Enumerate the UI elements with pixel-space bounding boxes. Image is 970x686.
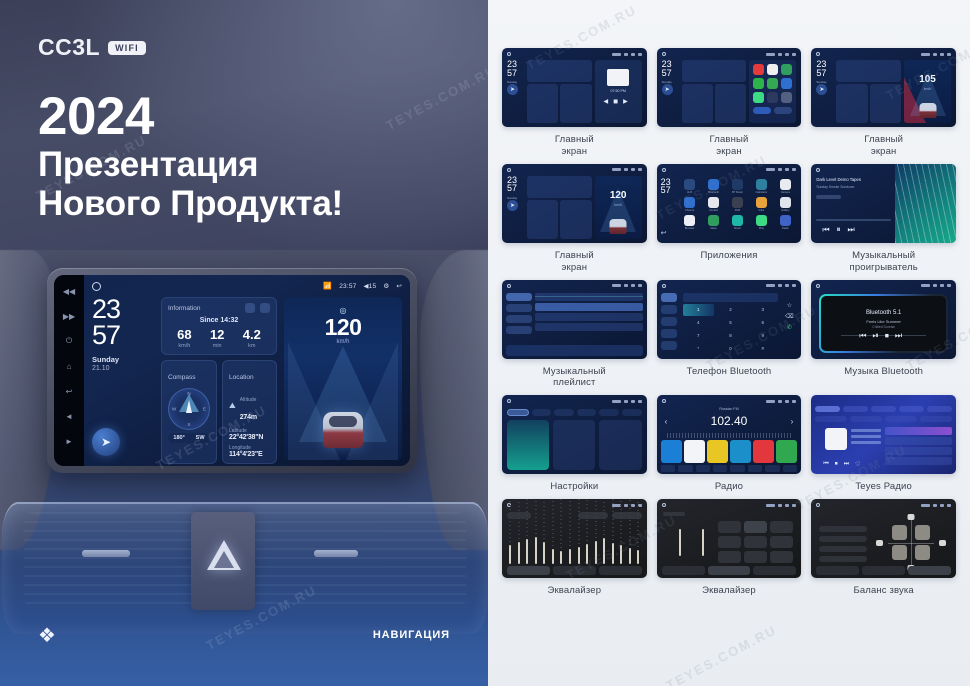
gallery-item[interactable]: Эквалайзер — [657, 499, 802, 597]
gallery-item[interactable]: Баланс звука — [811, 499, 956, 597]
eq-band[interactable] — [518, 542, 520, 564]
preset-driver[interactable] — [819, 526, 867, 532]
app-tile[interactable]: Browser — [679, 215, 701, 230]
progress-bar[interactable] — [816, 219, 891, 221]
app-tile[interactable]: Maps — [703, 215, 725, 230]
information-card[interactable]: Information Since 14:32 — [161, 297, 277, 355]
app-tile[interactable]: Files — [750, 197, 772, 212]
tab-equalizer[interactable] — [507, 566, 550, 575]
altitude-row: ⛰ Altitude 274m — [229, 388, 270, 424]
sidebar-item-artists[interactable] — [506, 315, 532, 323]
gallery-item[interactable]: Музыкальный плейлист — [502, 280, 647, 390]
thumbnail-equalizer-effects[interactable] — [657, 499, 802, 578]
refresh-icon[interactable] — [245, 303, 255, 313]
thumbnail-sound-balance[interactable] — [811, 499, 956, 578]
dialpad-key[interactable]: 1 — [683, 304, 714, 316]
speed-value: 120 — [284, 314, 402, 341]
app-tile[interactable]: Gallery — [774, 197, 796, 212]
sidebar-item-search[interactable] — [661, 317, 677, 326]
gallery-item[interactable]: 2357Sunday➤ 105 km/h Главный экран — [811, 48, 956, 158]
prev-track-key[interactable]: ◀◀ — [63, 285, 75, 297]
app-tile[interactable]: Bluetooth — [703, 179, 725, 194]
clock-date: 21.10 — [92, 365, 154, 372]
effect-sliders[interactable] — [669, 523, 715, 562]
search-icon[interactable] — [678, 465, 692, 472]
clock-icon — [921, 53, 930, 56]
back-icon[interactable]: ↩ — [396, 282, 402, 290]
slider-left[interactable] — [679, 529, 681, 556]
app-tile[interactable]: Camera — [774, 179, 796, 194]
presentation-slide: CC3L WIFI 2024 Презентация Нового Продук… — [0, 0, 970, 686]
bluetooth-transport-controls[interactable]: ⏮⏯⏹⏭ — [821, 331, 946, 341]
app-drawer-grid[interactable]: AUX Bluetooth BT Music Calculator Camera… — [679, 177, 797, 239]
eq-band[interactable] — [603, 538, 605, 564]
compass-dial: N S W E — [168, 388, 210, 430]
dialed-number-field[interactable] — [683, 293, 779, 302]
app-tile[interactable]: AUX — [679, 179, 701, 194]
app-tile[interactable]: Play — [750, 215, 772, 230]
tab-equalizer[interactable] — [816, 566, 859, 575]
volume-icon — [778, 504, 782, 507]
home-icon — [662, 503, 666, 507]
thumbnail-music-player[interactable]: Dark Level Demo Tapes Sunday Smoke Sundo… — [811, 164, 956, 243]
gallery-item[interactable]: 1 2 3 4 5 6 7 8 9 * 0 # ☆⌫✆ Те — [657, 280, 802, 390]
tab-all[interactable] — [815, 406, 840, 412]
filter-sort[interactable] — [920, 416, 952, 422]
phone-sidebar[interactable] — [661, 293, 677, 355]
preset-3[interactable] — [707, 440, 728, 463]
sidebar-item-contacts[interactable] — [661, 305, 677, 314]
app-tile[interactable]: Chrome — [679, 197, 701, 212]
seat-rear-left[interactable] — [892, 545, 907, 560]
station-row-selected[interactable] — [885, 427, 952, 435]
balance-up-button[interactable] — [908, 514, 915, 520]
tab-sound[interactable] — [532, 409, 552, 416]
eq-band[interactable] — [620, 545, 622, 564]
app-label: BT Music — [732, 191, 743, 194]
meta-line — [851, 435, 881, 438]
expand-icon[interactable] — [260, 303, 270, 313]
home-icon — [816, 52, 820, 56]
thumbnail-home-speed-105[interactable]: 2357Sunday➤ 105 km/h — [811, 48, 956, 127]
preset-vocal[interactable] — [770, 536, 793, 548]
app-label: Play — [759, 227, 764, 230]
dialpad-keys[interactable]: 1 2 3 4 5 6 7 8 9 * 0 # — [683, 304, 779, 355]
thumb-clock: 2357Sunday➤ — [507, 176, 524, 239]
preset-rear[interactable] — [819, 546, 867, 552]
preset-5[interactable] — [753, 440, 774, 463]
tab-fader[interactable] — [553, 566, 596, 575]
information-card-actions[interactable] — [245, 303, 270, 313]
meta-line — [851, 429, 881, 432]
compass-card[interactable]: Compass N S W E — [161, 360, 217, 464]
tab-system[interactable] — [622, 409, 642, 416]
thumb-driving-view: 120 km/h — [595, 176, 642, 239]
tab-equalizer[interactable] — [662, 566, 705, 575]
eq-band[interactable] — [543, 542, 545, 565]
preset-front[interactable] — [819, 536, 867, 542]
preset-flat[interactable] — [744, 551, 767, 563]
volume-icon — [624, 53, 628, 56]
tab-favorites[interactable] — [927, 406, 952, 412]
sidebar-item-dialpad[interactable] — [661, 293, 677, 302]
loc-icon[interactable] — [748, 465, 762, 472]
gallery-item[interactable]: Настройки — [502, 395, 647, 493]
home-icon — [816, 284, 820, 288]
gear-icon — [631, 53, 635, 56]
phone-actions[interactable]: ☆⌫✆ — [781, 302, 797, 355]
dialpad-key[interactable]: 7 — [683, 330, 714, 342]
balance-left-button[interactable] — [876, 540, 883, 546]
eq-icon[interactable] — [713, 465, 727, 472]
volume-up-key[interactable]: ► — [63, 435, 75, 447]
band-button[interactable] — [661, 465, 675, 472]
gear-icon — [940, 504, 944, 507]
gear-icon — [631, 504, 635, 507]
gallery-item[interactable]: Bluetooth 5.1 Feels Like Summer Chilled … — [811, 280, 956, 390]
list-item[interactable] — [535, 323, 643, 331]
teyes-radio-tabs[interactable] — [815, 406, 952, 413]
gallery-item[interactable]: 2357Sunday➤ 07:50 PM ◀◼▶ Главный экран — [502, 48, 647, 158]
gallery-item[interactable]: Dark Level Demo Tapes Sunday Smoke Sundo… — [811, 164, 956, 274]
app-tile[interactable]: DVR — [727, 197, 749, 212]
compass-north-label: N — [187, 391, 190, 396]
dialpad-key[interactable]: # — [747, 343, 778, 355]
thumb-nav-fab: ➤ — [507, 200, 518, 211]
preset-pop[interactable] — [718, 521, 741, 533]
preset-jazz[interactable] — [718, 536, 741, 548]
playlist-rows[interactable] — [535, 293, 643, 343]
home-key[interactable]: ⌂ — [63, 360, 75, 372]
power-key[interactable]: ⏻ — [63, 335, 75, 347]
preset-all[interactable] — [819, 556, 867, 562]
list-item[interactable] — [535, 293, 643, 301]
gallery-item[interactable]: Russian FM 102.40 ‹ › Радио — [657, 395, 802, 493]
seat-front-right[interactable] — [915, 525, 930, 540]
app-label: AUX — [687, 191, 692, 194]
tab-fader[interactable] — [862, 566, 905, 575]
seat-rear-right[interactable] — [915, 545, 930, 560]
stop-icon[interactable]: ⏹ — [835, 461, 838, 468]
app-label: Camera — [781, 191, 790, 194]
gear-icon[interactable]: ⚙ — [383, 282, 389, 290]
thumb-status-bar — [662, 167, 797, 173]
head-unit-hardware-keys[interactable]: ◀◀ ▶▶ ⏻ ⌂ ↩ ◄ ► — [54, 275, 84, 466]
volume-down-key[interactable]: ◄ — [63, 410, 75, 422]
preset-bass[interactable] — [718, 551, 741, 563]
balance-pad[interactable] — [888, 519, 934, 566]
tab-news[interactable] — [871, 406, 896, 412]
product-logo: CC3L WIFI — [38, 34, 146, 61]
thumb-status-icons — [921, 53, 951, 56]
eq-band[interactable] — [552, 549, 554, 565]
eq-band[interactable] — [629, 548, 631, 564]
all-apps-icon — [781, 92, 792, 103]
thumb-status-bar — [816, 502, 951, 508]
status-bar: 📶 23:57 ◀15 ⚙ ↩ — [92, 280, 402, 292]
frequency-scale[interactable] — [667, 433, 792, 438]
bluetooth-music-icon — [732, 179, 743, 190]
gallery-item[interactable]: 2357Sunday➤ 120 km/h Главный экран — [502, 164, 647, 274]
next-icon[interactable]: ⏭ — [844, 461, 849, 468]
dvr-icon — [732, 197, 743, 208]
track-artist: Sunday Smoke Sundown — [816, 185, 897, 189]
back-icon — [947, 53, 951, 56]
clock-icon — [766, 53, 775, 56]
settings-cards[interactable] — [507, 420, 642, 470]
thumb-location-card — [870, 84, 901, 123]
effect-presets-grid[interactable] — [718, 521, 793, 563]
vehicle-icon — [323, 412, 363, 448]
play-store-icon — [753, 92, 764, 103]
gallery-item[interactable]: 2357 AUX Bluetooth BT Music Calculator C… — [657, 164, 802, 274]
track-title: Dark Level Demo Tapes — [816, 177, 897, 182]
equalizer-footer-tabs[interactable] — [507, 566, 642, 575]
vehicle-icon — [919, 103, 936, 118]
thumbnail-bluetooth-music[interactable]: Bluetooth 5.1 Feels Like Summer Chilled … — [811, 280, 956, 359]
filter-rate[interactable] — [885, 416, 917, 422]
thumbnail-playlist[interactable] — [502, 280, 647, 359]
lower-widgets-row: Compass N S W E — [161, 360, 277, 464]
media-controls: ◀◼▶ — [595, 98, 642, 105]
volume-icon — [778, 53, 782, 56]
tab-general[interactable] — [599, 409, 619, 416]
tune-down-icon[interactable]: ‹ — [665, 417, 668, 426]
compass-heading-value: 180° — [173, 435, 184, 441]
thumbnail-settings[interactable] — [502, 395, 647, 474]
thumbnail-home-media[interactable]: 2357Sunday➤ 07:50 PM ◀◼▶ — [502, 48, 647, 127]
back-key[interactable]: ↩ — [63, 385, 75, 397]
settings-icon[interactable] — [765, 465, 779, 472]
eq-band[interactable] — [526, 539, 528, 564]
clock-icon — [921, 284, 930, 287]
sidebar-item-settings[interactable] — [661, 341, 677, 350]
apps-back-icon[interactable]: ↩ — [661, 229, 667, 237]
gallery-item[interactable]: Эквалайзер — [502, 499, 647, 597]
pause-icon[interactable]: ⏸ — [837, 225, 841, 235]
thumb-minute: 57 — [507, 184, 524, 193]
settings-tabs[interactable] — [507, 408, 642, 416]
compass-direction-value: SW — [196, 435, 205, 441]
call-icon[interactable]: ✆ — [787, 324, 792, 331]
thumbnail-equalizer[interactable] — [502, 499, 647, 578]
thumbnail-radio[interactable]: Russian FM 102.40 ‹ › — [657, 395, 802, 474]
app-tile[interactable]: Contact — [703, 197, 725, 212]
pill-left — [753, 107, 771, 114]
thumb-status-icons — [766, 53, 796, 56]
eq-band[interactable] — [509, 545, 511, 564]
gear-icon — [631, 168, 635, 171]
equalizer-footer-tabs[interactable] — [662, 566, 797, 575]
dialpad-key[interactable]: * — [683, 343, 714, 355]
thumb-minute: 57 — [507, 69, 524, 78]
sidebar-item-folders[interactable] — [506, 326, 532, 334]
app-tile[interactable]: Radio — [774, 215, 796, 230]
card-wifi[interactable] — [507, 420, 549, 470]
thumbnail-home-apps[interactable]: 2357Sunday➤ .sc,.t-right i{width:11px;he… — [657, 48, 802, 127]
tune-up-icon[interactable]: › — [791, 417, 794, 426]
list-icon[interactable] — [696, 465, 710, 472]
card-car-settings[interactable] — [553, 420, 595, 470]
eq-band[interactable] — [595, 541, 597, 564]
navigation-arrow-icon: ➤ — [101, 436, 111, 448]
hero-panel: CC3L WIFI 2024 Презентация Нового Продук… — [0, 0, 488, 686]
gallery-caption: Teyes Радио — [855, 481, 912, 493]
eq-band[interactable] — [637, 550, 639, 564]
preset-4[interactable] — [730, 440, 751, 463]
balance-presets[interactable] — [819, 523, 867, 564]
list-item[interactable] — [535, 313, 643, 321]
dialpad-key[interactable]: 8 — [715, 330, 746, 342]
player-controls[interactable]: ⏮⏸⏭ — [822, 225, 854, 235]
tab-fader[interactable] — [708, 566, 751, 575]
sidebar-item-history[interactable] — [661, 329, 677, 338]
location-card[interactable]: Location ⛰ Altitude 274m — [222, 360, 277, 464]
app-label: Maps — [710, 227, 716, 230]
gear-icon — [785, 284, 789, 287]
station-row[interactable] — [885, 437, 952, 445]
equalizer-footer-tabs[interactable] — [816, 566, 951, 575]
app-tile[interactable]: Music — [727, 215, 749, 230]
dialpad-key[interactable]: 0 — [715, 343, 746, 355]
preset-6[interactable] — [776, 440, 797, 463]
thumb-media-card: 07:50 PM ◀◼▶ — [595, 60, 642, 123]
tab-wifi[interactable] — [507, 409, 529, 416]
thumb-status-bar — [662, 51, 797, 57]
app-tile[interactable]: BT Music — [727, 179, 749, 194]
thumb-row — [836, 84, 901, 123]
thumb-clock: 2357Sunday➤ — [507, 60, 524, 123]
tab-display[interactable] — [554, 409, 574, 416]
backspace-icon[interactable]: ⌫ — [785, 313, 793, 320]
equalizer-band-sliders[interactable] — [509, 525, 640, 564]
thumb-status-bar — [662, 398, 797, 404]
favorite-icon[interactable]: ♡ — [855, 461, 860, 468]
now-playing-bar[interactable] — [506, 345, 643, 356]
gallery-caption: Приложения — [700, 250, 757, 262]
thumb-minute: 57 — [662, 69, 679, 78]
dialpad-key[interactable]: 9 — [747, 330, 778, 342]
thumbnail-home-speed-120[interactable]: 2357Sunday➤ 120 km/h — [502, 164, 647, 243]
app-tile[interactable]: Calculator — [750, 179, 772, 194]
preset-custom[interactable] — [744, 536, 767, 548]
prev-icon[interactable]: ⏮ — [823, 461, 828, 468]
apps-clock: 2357 — [661, 178, 671, 195]
apps-icon[interactable] — [783, 465, 797, 472]
tab-balance[interactable] — [908, 566, 951, 575]
station-row[interactable] — [885, 447, 952, 455]
dialpad-key[interactable]: 6 — [747, 317, 778, 329]
seat-front-left[interactable] — [892, 525, 907, 540]
filter-rock[interactable] — [815, 416, 847, 422]
status-clock: 23:57 — [339, 283, 356, 290]
thumbnail-apps[interactable]: 2357 AUX Bluetooth BT Music Calculator C… — [657, 164, 802, 243]
thumb-compass-card — [682, 84, 713, 123]
tab-balance[interactable] — [599, 566, 642, 575]
thumbnail-bluetooth-phone[interactable]: 1 2 3 4 5 6 7 8 9 * 0 # ☆⌫✆ — [657, 280, 802, 359]
preset-1[interactable] — [661, 440, 682, 463]
player-meta-line — [816, 195, 840, 199]
layers-icon[interactable]: ❖ — [38, 626, 56, 646]
gear-icon — [940, 284, 944, 287]
dialpad-key[interactable]: 4 — [683, 317, 714, 329]
radio-presets[interactable] — [661, 440, 798, 463]
station-list[interactable] — [885, 427, 952, 470]
eq-band[interactable] — [560, 551, 562, 564]
tab-genres[interactable] — [843, 406, 868, 412]
driving-view-widget[interactable]: ◎ 120 km/h — [284, 297, 402, 460]
clock-hour: 23 — [92, 297, 154, 323]
prev-icon[interactable]: ⏮ — [822, 225, 829, 235]
gallery-item[interactable]: ⏮⏹⏭♡ Teyes Радио — [811, 395, 956, 493]
balance-right-button[interactable] — [939, 540, 946, 546]
tab-balance[interactable] — [753, 566, 796, 575]
back-icon — [792, 504, 796, 507]
station-meta — [851, 429, 881, 447]
status-home-icon[interactable] — [92, 282, 101, 291]
thumbnail-teyes-radio[interactable]: ⏮⏹⏭♡ — [811, 395, 956, 474]
eq-band[interactable] — [586, 544, 588, 564]
camera-icon — [780, 179, 791, 190]
vehicle-icon — [610, 219, 627, 234]
trip-metrics: 68 km/h 12 min 4.2 — [168, 328, 270, 349]
preset-classic[interactable] — [744, 521, 767, 533]
preset-dance[interactable] — [770, 551, 793, 563]
thumb-status-icons — [766, 504, 796, 507]
teyes-radio-controls[interactable]: ⏮⏹⏭♡ — [823, 461, 860, 468]
eq-band[interactable] — [612, 543, 614, 564]
back-icon — [792, 284, 796, 287]
dialpad-key[interactable]: 2 — [715, 304, 746, 316]
next-track-key[interactable]: ▶▶ — [63, 310, 75, 322]
card-more[interactable] — [599, 420, 641, 470]
sidebar-item-tracks[interactable] — [506, 293, 532, 301]
star-icon[interactable]: ☆ — [787, 302, 792, 309]
player-info: Dark Level Demo Tapes Sunday Smoke Sundo… — [816, 177, 897, 239]
preset-rock[interactable] — [770, 521, 793, 533]
gallery-item[interactable]: 2357Sunday➤ .sc,.t-right i{width:11px;he… — [657, 48, 802, 158]
preset-2[interactable] — [684, 440, 705, 463]
tab-factory[interactable] — [577, 409, 597, 416]
rds-icon[interactable] — [730, 465, 744, 472]
eq-band[interactable] — [569, 549, 571, 564]
dialpad-key[interactable]: 5 — [715, 317, 746, 329]
slider-right[interactable] — [702, 529, 704, 556]
thumb-status-bar — [662, 283, 797, 289]
latitude-row: Latitude 22°42'38"N — [229, 428, 270, 441]
home-icon — [507, 168, 511, 172]
teyes-radio-filters[interactable] — [815, 416, 952, 423]
thumb-status-icons — [612, 53, 642, 56]
compass-readout: 180° SW — [168, 433, 210, 443]
eq-band[interactable] — [535, 537, 537, 564]
station-row[interactable] — [885, 457, 952, 465]
dialpad-key[interactable]: 3 — [747, 304, 778, 316]
thumb-body: 2357Sunday➤ 120 km/h — [507, 176, 642, 239]
radio-toolbar[interactable] — [661, 465, 798, 472]
gear-icon — [785, 168, 789, 171]
eq-band[interactable] — [578, 547, 580, 564]
home-icon — [507, 399, 511, 403]
next-icon[interactable]: ⏭ — [848, 225, 855, 235]
clock-icon — [766, 504, 775, 507]
list-item-selected[interactable] — [535, 303, 643, 311]
sidebar-item-albums[interactable] — [506, 304, 532, 312]
filter-pop[interactable] — [850, 416, 882, 422]
navigation-label: НАВИГАЦИЯ — [373, 629, 450, 641]
tab-country[interactable] — [899, 406, 924, 412]
navigation-fab-button[interactable]: ➤ — [92, 428, 120, 456]
